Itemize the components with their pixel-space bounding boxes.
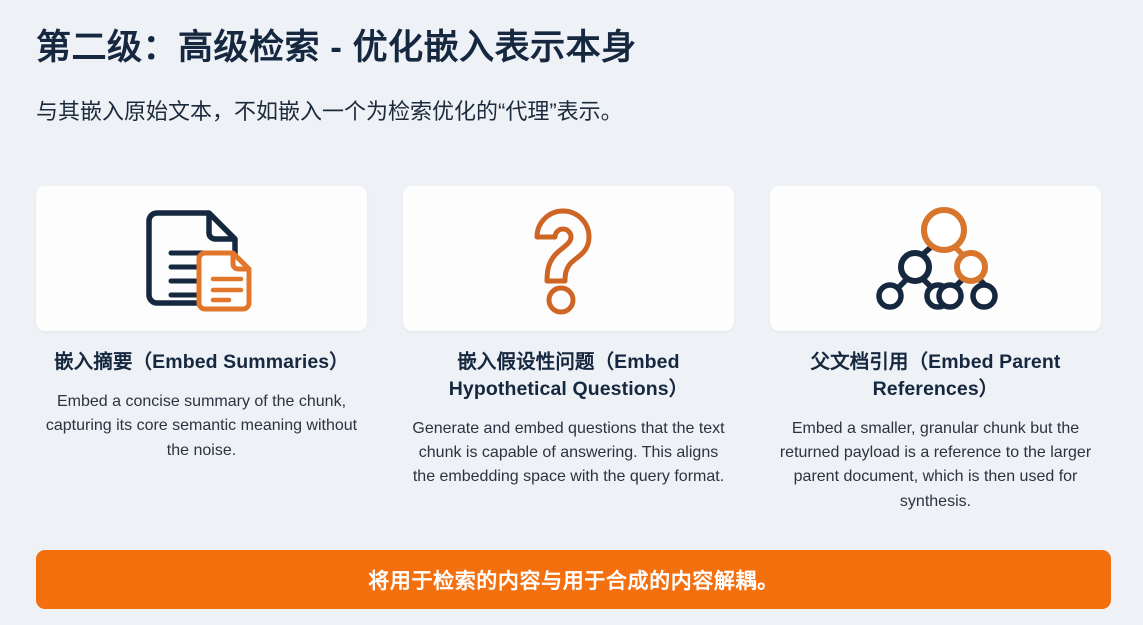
card-description: Generate and embed questions that the te… (410, 417, 728, 490)
page-subtitle: 与其嵌入原始文本，不如嵌入一个为检索优化的“代理”表示。 (36, 97, 1111, 128)
card-title: 嵌入摘要（Embed Summaries） (43, 349, 361, 376)
question-mark-icon (523, 201, 615, 317)
cards-row: 嵌入摘要（Embed Summaries） Embed a concise su… (36, 186, 1111, 514)
banner-text: 将用于检索的内容与用于合成的内容解耦。 (368, 565, 778, 595)
document-summary-icon (143, 203, 261, 315)
card-embed-summaries[interactable]: 嵌入摘要（Embed Summaries） Embed a concise su… (36, 186, 367, 463)
card-title: 嵌入假设性问题（Embed Hypothetical Questions） (410, 349, 728, 403)
hierarchy-tree-icon (872, 204, 1000, 314)
icon-panel (403, 186, 734, 331)
card-title: 父文档引用（Embed Parent References） (777, 349, 1095, 403)
key-takeaway-banner: 将用于检索的内容与用于合成的内容解耦。 (36, 550, 1111, 609)
slide-header: 第二级：高级检索 - 优化嵌入表示本身 与其嵌入原始文本，不如嵌入一个为检索优化… (36, 26, 1111, 128)
icon-panel (770, 186, 1101, 331)
card-embed-hypothetical-questions[interactable]: 嵌入假设性问题（Embed Hypothetical Questions） Ge… (403, 186, 734, 490)
card-embed-parent-references[interactable]: 父文档引用（Embed Parent References） Embed a s… (770, 186, 1101, 514)
slide-root: 第二级：高级检索 - 优化嵌入表示本身 与其嵌入原始文本，不如嵌入一个为检索优化… (0, 0, 1143, 625)
icon-panel (36, 186, 367, 331)
card-description: Embed a concise summary of the chunk, ca… (43, 390, 361, 463)
page-title: 第二级：高级检索 - 优化嵌入表示本身 (36, 26, 1111, 71)
card-description: Embed a smaller, granular chunk but the … (777, 417, 1095, 514)
